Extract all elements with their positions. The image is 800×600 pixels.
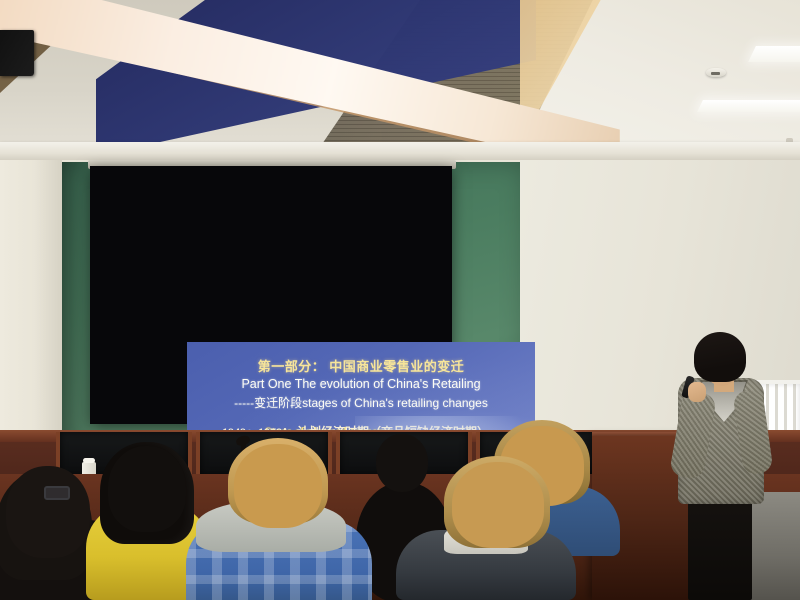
audience-head (108, 446, 186, 532)
ceiling-panel-light-1 (748, 46, 800, 62)
slide-subtitle-mixed: -----变迁阶段stages of China's retailing cha… (187, 394, 535, 411)
ceiling-crown-beam (0, 142, 800, 162)
presenter-hair (694, 332, 746, 382)
presenter-hand (688, 382, 706, 402)
wall-column-left (0, 160, 62, 460)
projection-screen: 第一部分： 中国商业零售业的变迁 Part One The evolution … (90, 166, 452, 424)
lecture-hall-photo: 第一部分： 中国商业零售业的变迁 Part One The evolution … (0, 0, 800, 600)
audience-head (376, 434, 428, 492)
slide-subtitle-en: Part One The evolution of China's Retail… (187, 377, 535, 391)
audience-head (452, 462, 544, 548)
audience-head (234, 444, 322, 528)
audience-head (6, 466, 90, 558)
ceiling-panel-light-2 (697, 100, 800, 112)
wall-speaker-icon (0, 30, 34, 76)
glasses-icon (44, 486, 70, 500)
presenter-legs (688, 496, 752, 600)
smoke-detector-icon (706, 68, 726, 77)
slide-title: 第一部分： 中国商业零售业的变迁 (187, 356, 535, 375)
